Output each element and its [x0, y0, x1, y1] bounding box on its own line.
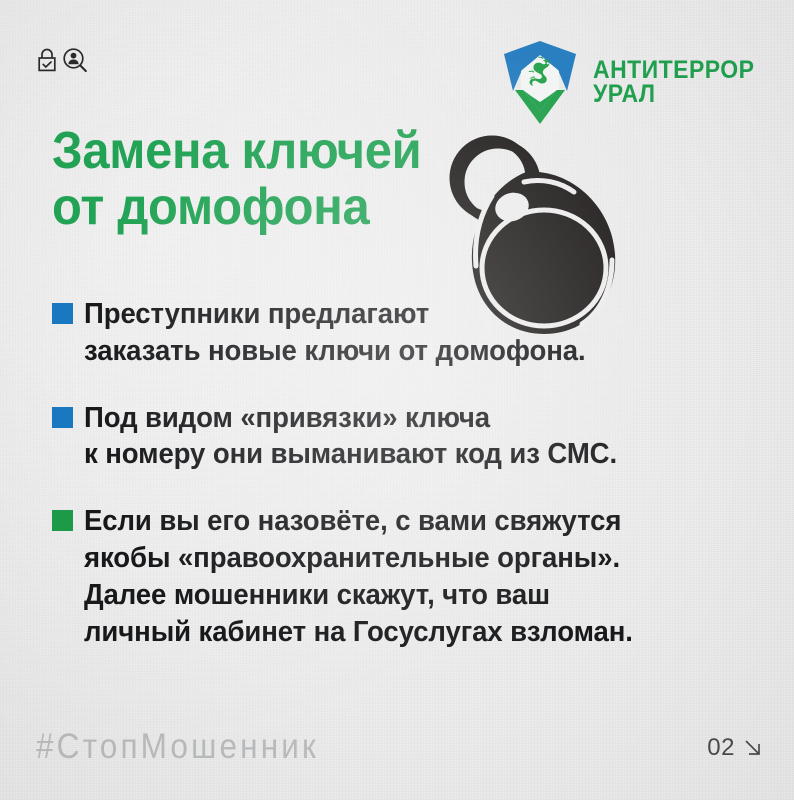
page-number: 02 — [707, 734, 735, 762]
bullet-marker-green — [52, 510, 73, 531]
list-item: Если вы его назовёте, с вами свяжутся як… — [52, 503, 712, 650]
security-icons-group — [36, 47, 88, 74]
arrow-down-right-icon — [742, 737, 764, 759]
lock-check-icon — [36, 47, 58, 73]
bullet-list: Преступники предлагают заказать новые кл… — [52, 296, 712, 651]
brand-line-1: АНТИТЕРРОР — [593, 58, 754, 82]
brand-line-2: УРАЛ — [593, 82, 754, 106]
title-line-2: от домофона — [52, 180, 447, 236]
bullet-marker-blue — [52, 303, 73, 324]
bullet-text: Если вы его назовёте, с вами свяжутся як… — [84, 503, 633, 650]
brand-logo: АНТИТЕРРОР УРАЛ — [501, 36, 768, 128]
list-item: Преступники предлагают заказать новые кл… — [52, 296, 712, 370]
infographic-poster: АНТИТЕРРОР УРАЛ Замена ключей от домофон… — [0, 0, 794, 800]
bullet-text: Под видом «привязки» ключа к номеру они … — [84, 400, 617, 474]
page-number-group: 02 — [707, 734, 764, 762]
list-item: Под видом «привязки» ключа к номеру они … — [52, 400, 712, 474]
bullet-marker-blue — [52, 407, 73, 428]
page-title: Замена ключей от домофона — [52, 124, 447, 235]
campaign-hashtag: #СтопМошенник — [36, 727, 319, 767]
antiterror-ural-shield-logo — [501, 36, 579, 128]
person-search-icon — [62, 47, 88, 74]
title-line-1: Замена ключей — [52, 124, 447, 180]
brand-name: АНТИТЕРРОР УРАЛ — [593, 58, 768, 106]
bullet-text: Преступники предлагают заказать новые кл… — [84, 296, 586, 370]
